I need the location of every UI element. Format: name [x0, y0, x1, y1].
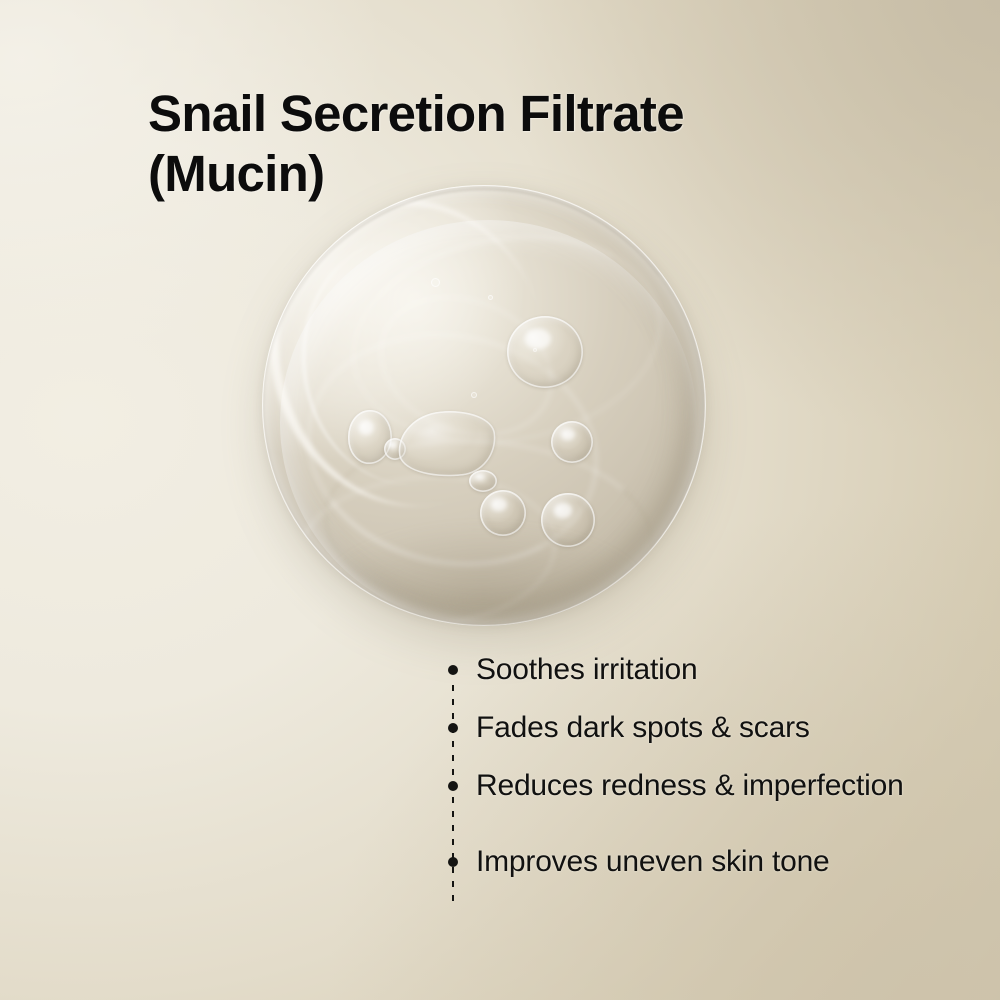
benefits-list: Soothes irritation Fades dark spots & sc… — [446, 652, 946, 880]
gel-swirl-bottom — [293, 467, 560, 626]
droplet-inner-shading — [280, 220, 697, 626]
droplet-rim-highlight-inner — [290, 227, 528, 495]
micro-bubble-2 — [488, 295, 493, 300]
gel-swirl-upper — [336, 212, 677, 466]
benefit-text: Improves uneven skin tone — [476, 845, 830, 878]
gel-swirl-mid — [286, 307, 620, 592]
micro-bubble-3 — [471, 392, 477, 398]
gel-bubble-large — [507, 316, 583, 388]
benefit-text: Soothes irritation — [476, 653, 698, 686]
gel-bubble-right-lower — [541, 493, 595, 547]
page-title: Snail Secretion Filtrate (Mucin) — [148, 84, 848, 204]
gel-bubble-right-mid — [551, 421, 593, 463]
droplet-rim-highlight — [262, 185, 579, 536]
droplet-meniscus — [262, 185, 688, 626]
gel-bubble-tiny-left — [384, 438, 406, 460]
gel-swirl-lower — [316, 424, 661, 626]
title-line-2: (Mucin) — [148, 144, 848, 204]
droplet-rim-dark — [265, 188, 703, 623]
benefit-text: Reduces redness & imperfection — [476, 769, 904, 802]
gel-swirl-center — [359, 271, 573, 460]
gel-blob-elongated — [395, 406, 499, 482]
bullet-dot-icon — [448, 857, 458, 867]
micro-bubble-4 — [533, 348, 537, 352]
micro-bubble-1 — [431, 278, 440, 287]
droplet-base-shadow — [289, 494, 680, 626]
bullet-dot-icon — [448, 665, 458, 675]
list-item: Reduces redness & imperfection — [446, 768, 946, 804]
gel-bubble-small-center — [469, 470, 497, 492]
benefit-text: Fades dark spots & scars — [476, 711, 810, 744]
list-item: Soothes irritation — [446, 652, 946, 688]
gel-bubble-left-oval — [348, 410, 392, 464]
gel-bubble-lower-center — [480, 490, 526, 536]
bullet-dot-icon — [448, 781, 458, 791]
list-item: Fades dark spots & scars — [446, 710, 946, 746]
droplet-outer-rim — [262, 185, 706, 626]
title-line-1: Snail Secretion Filtrate — [148, 84, 848, 144]
gel-droplet-image — [262, 185, 706, 626]
ingredient-poster: Snail Secretion Filtrate (Mucin) — [0, 0, 1000, 1000]
list-item: Improves uneven skin tone — [446, 844, 946, 880]
bullet-dot-icon — [448, 723, 458, 733]
